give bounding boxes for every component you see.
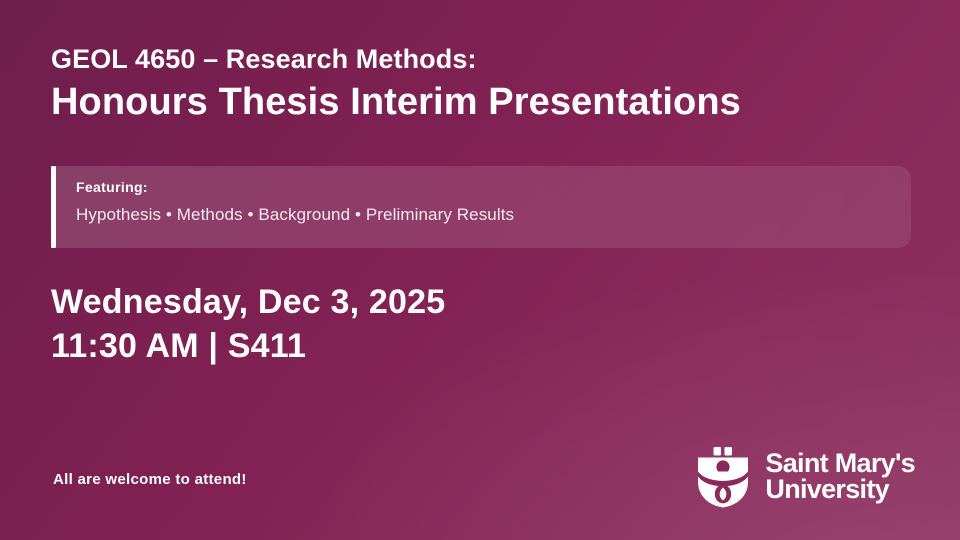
slide-content: GEOL 4650 – Research Methods: Honours Th… xyxy=(0,0,960,540)
course-title: GEOL 4650 – Research Methods: xyxy=(51,44,931,76)
when-block: Wednesday, Dec 3, 2025 11:30 AM | S411 xyxy=(51,281,445,368)
saint-marys-shield-crest-icon xyxy=(694,446,752,508)
event-time-location: 11:30 AM | S411 xyxy=(51,325,445,369)
featuring-panel: Featuring: Hypothesis • Methods • Backgr… xyxy=(51,166,911,248)
featuring-panel-body: Featuring: Hypothesis • Methods • Backgr… xyxy=(56,166,911,248)
welcome-note: All are welcome to attend! xyxy=(53,471,247,488)
university-wordmark: Saint Mary's University xyxy=(765,451,915,503)
university-logo-lockup: Saint Mary's University xyxy=(694,446,915,508)
featuring-label: Featuring: xyxy=(76,179,911,195)
featuring-items: Hypothesis • Methods • Background • Prel… xyxy=(76,205,911,225)
title-block: GEOL 4650 – Research Methods: Honours Th… xyxy=(51,44,931,125)
event-slide: GEOL 4650 – Research Methods: Honours Th… xyxy=(0,0,960,540)
event-title: Honours Thesis Interim Presentations xyxy=(51,79,931,125)
wordmark-line-2: University xyxy=(765,477,915,503)
event-date: Wednesday, Dec 3, 2025 xyxy=(51,281,445,325)
